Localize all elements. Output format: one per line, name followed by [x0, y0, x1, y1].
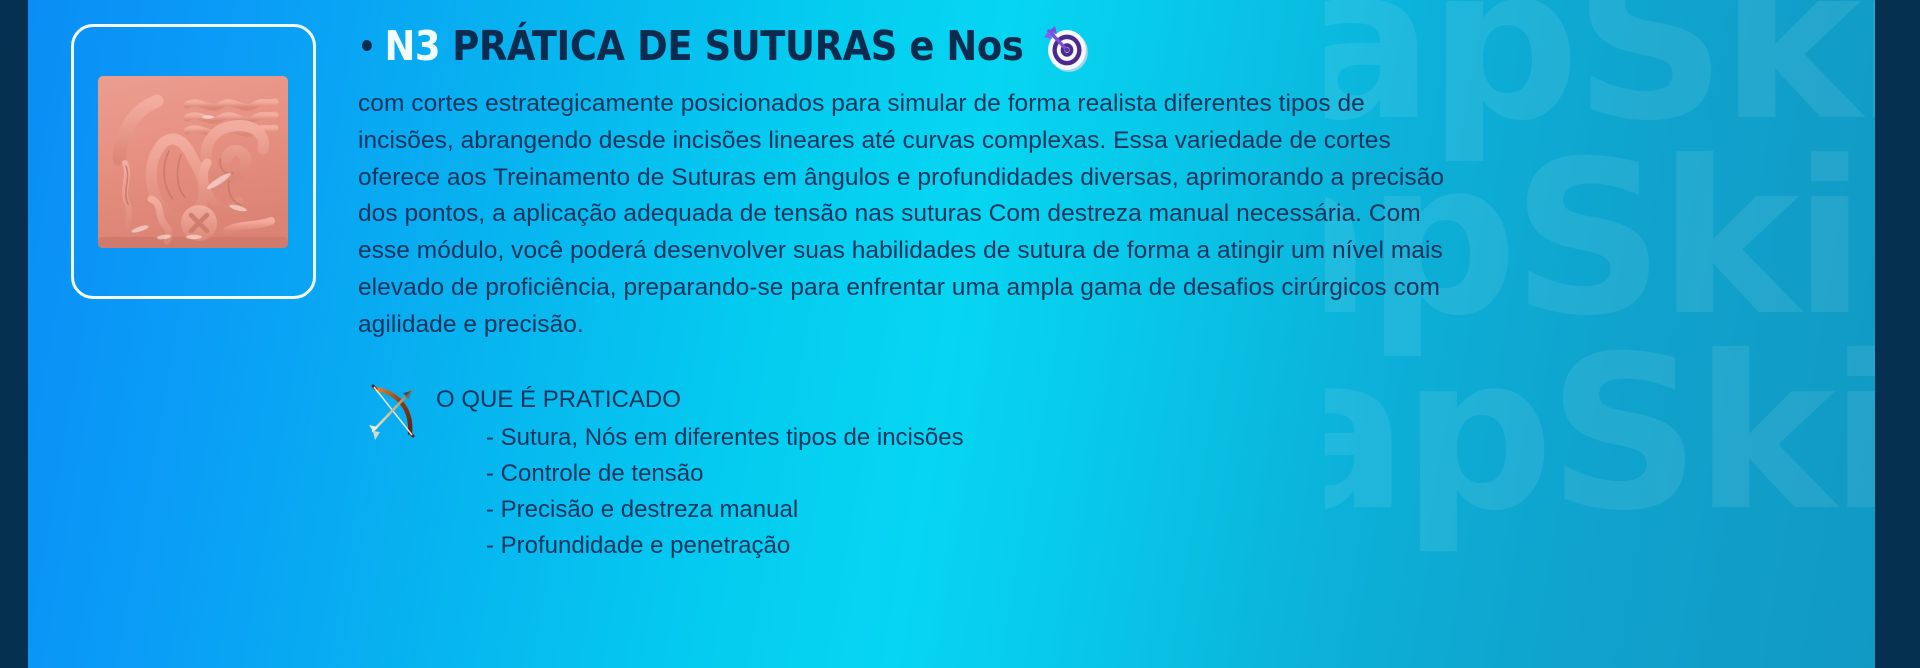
practiced-heading: O QUE É PRATICADO: [436, 385, 964, 414]
list-item: - Precisão e destreza manual: [434, 492, 964, 528]
target-icon: [1040, 22, 1094, 76]
suture-practice-pad-image: [95, 71, 291, 253]
list-item: - Controle de tensão: [434, 456, 964, 492]
slide-root: apSkill apSkill apSkill: [0, 0, 1920, 668]
slide-content: • N3 PRÁTICA DE SUTURAS e Nos: [28, 0, 1875, 668]
bow-and-arrow-icon: [364, 383, 422, 441]
practiced-body: O QUE É PRATICADO - Sutura, Nós em difer…: [434, 381, 964, 563]
gradient-panel: apSkill apSkill apSkill: [28, 0, 1875, 668]
body-paragraph: com cortes estrategicamente posicionados…: [358, 86, 1445, 343]
list-item: - Sutura, Nós em diferentes tipos de inc…: [434, 420, 964, 456]
product-image-frame: [71, 24, 316, 299]
text-column: • N3 PRÁTICA DE SUTURAS e Nos: [358, 18, 1875, 668]
title-level-badge: N3: [384, 25, 440, 68]
page-title: • N3 PRÁTICA DE SUTURAS e Nos: [358, 20, 1445, 74]
list-item: - Profundidade e penetração: [434, 528, 964, 564]
practiced-item-list: - Sutura, Nós em diferentes tipos de inc…: [434, 420, 964, 564]
title-heading: PRÁTICA DE SUTURAS e Nos: [452, 25, 1023, 68]
practiced-section: O QUE É PRATICADO - Sutura, Nós em difer…: [358, 381, 1445, 563]
title-bullet: •: [358, 32, 375, 63]
product-image-column: [28, 18, 358, 668]
